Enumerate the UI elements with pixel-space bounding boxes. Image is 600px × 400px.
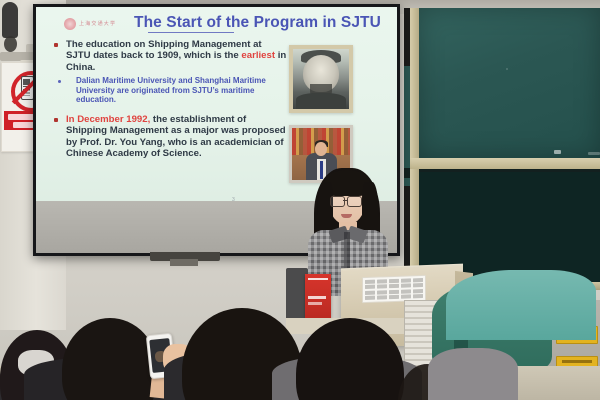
- bullet-emphasis: earliest: [241, 50, 275, 61]
- student-audience: [0, 270, 600, 400]
- bullet-emphasis: In December 1992,: [66, 114, 150, 125]
- wall-speaker-icon: [4, 36, 17, 52]
- bullet-segment: The education on Shipping Management at …: [66, 39, 262, 61]
- bullet-text: In December 1992, the establishment of S…: [66, 114, 288, 160]
- bullet-marker-icon: [54, 43, 58, 47]
- student-shoulders: [428, 348, 518, 400]
- classroom-photo: 上海交通大学 The Start of the Program in SJTU …: [0, 0, 600, 400]
- slide-title: The Start of the Program in SJTU: [134, 14, 381, 32]
- historical-portrait-photo: [289, 45, 353, 113]
- screen-bracket-arm: [170, 259, 198, 266]
- chalk-mark: [506, 68, 508, 70]
- sub-bullet-text: Dalian Maritime University and Shanghai …: [76, 76, 288, 105]
- title-underline: [148, 32, 234, 33]
- portrait-robe: [296, 93, 346, 109]
- slide-header: 上海交通大学 The Start of the Program in SJTU: [42, 12, 391, 34]
- bullet-item: The education on Shipping Management at …: [52, 39, 288, 73]
- eyeglasses-icon: [347, 196, 362, 207]
- slide-bullet-list: The education on Shipping Management at …: [52, 39, 288, 162]
- chalkboard-main: [418, 8, 600, 158]
- bullet-text: The education on Shipping Management at …: [66, 39, 288, 73]
- sjtu-logo-text: 上海交通大学: [79, 20, 116, 27]
- student-with-phone: [62, 318, 158, 400]
- bullet-item: In December 1992, the establishment of S…: [52, 114, 288, 160]
- eyeglasses-bridge: [343, 200, 348, 201]
- teal-jacket: [446, 270, 596, 340]
- sub-bullet-marker-icon: [58, 80, 61, 83]
- sjtu-emblem-icon: [64, 18, 76, 30]
- portrait-image: [293, 49, 349, 109]
- eyeglasses-icon: [330, 196, 345, 207]
- chalk-piece: [554, 150, 561, 154]
- chalkboard-ledge: [410, 158, 600, 169]
- bullet-marker-icon: [54, 118, 58, 122]
- sub-bullet-item: Dalian Maritime University and Shanghai …: [52, 76, 288, 105]
- wall-fixture-dark: [2, 2, 18, 38]
- chalk-dust: [588, 152, 600, 155]
- student-head: [296, 318, 404, 400]
